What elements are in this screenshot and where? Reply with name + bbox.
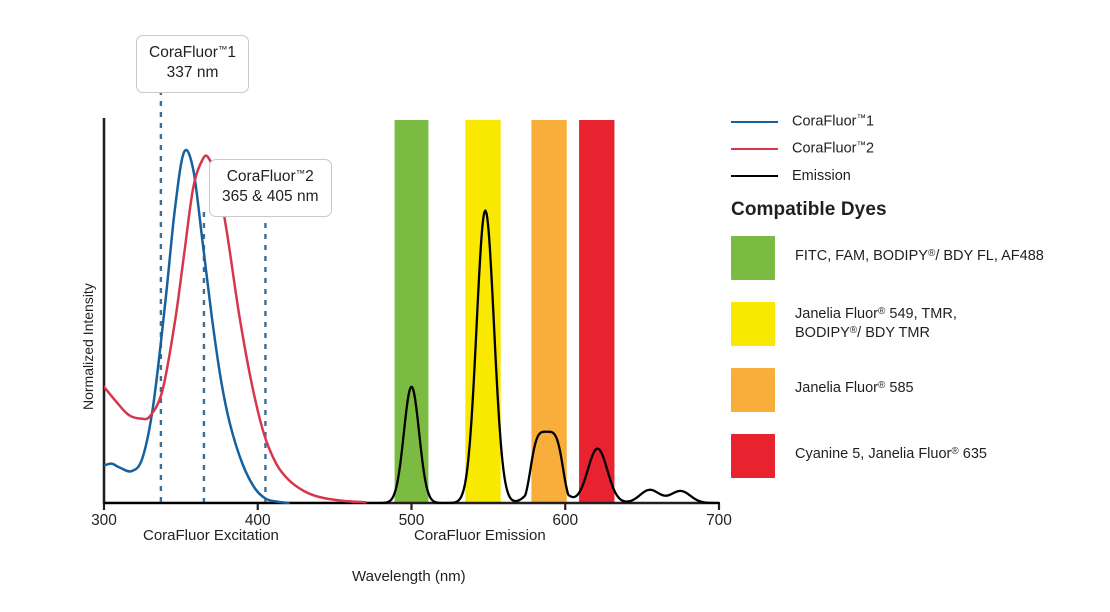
dye-color-swatch [731,434,775,478]
legend-line-swatch [731,148,778,150]
trademark-icon: ™ [296,168,306,179]
callout-2-line1: CoraFluor [227,168,296,185]
excitation-marker-lines [161,90,266,503]
dye-item-2[interactable]: Janelia Fluor® 585 [731,368,1103,412]
dye-item-1[interactable]: Janelia Fluor® 549, TMR,BODIPY®/ BDY TMR [731,302,1103,346]
dye-color-swatch [731,302,775,346]
callout-corafluor1: CoraFluor™1 337 nm [136,35,249,93]
registered-icon: ® [928,248,935,259]
x-tick-label-600: 600 [552,512,578,530]
callout-2-line2: 365 & 405 nm [222,187,319,207]
registered-icon: ® [850,325,857,336]
legend-item-2[interactable]: Emission [731,162,1103,189]
legend-line-swatch [731,121,778,123]
registered-icon: ® [951,446,958,457]
x-tick-label-300: 300 [91,512,117,530]
compatible-dyes-title: Compatible Dyes [731,199,887,221]
registered-icon: ® [878,306,885,317]
emission-band-group [395,120,615,503]
x-tick-label-700: 700 [706,512,732,530]
callout-corafluor2: CoraFluor™2 365 & 405 nm [209,159,332,217]
red-band [579,120,614,503]
legend-item-1[interactable]: CoraFluor™2 [731,135,1103,162]
orange-band [531,120,566,503]
compatible-dyes-list: FITC, FAM, BODIPY®/ BDY FL, AF488Janelia… [731,236,1103,500]
legend-item-0[interactable]: CoraFluor™1 [731,108,1103,135]
dye-item-label: FITC, FAM, BODIPY®/ BDY FL, AF488 [795,236,1044,266]
dye-item-label: Janelia Fluor® 549, TMR,BODIPY®/ BDY TMR [795,302,957,344]
trademark-icon: ™ [856,140,866,151]
spectra-plot [0,0,760,560]
trademark-icon: ™ [856,113,866,124]
figure-root: CoraFluor™1 337 nm CoraFluor™2 365 & 405… [0,0,1110,612]
dye-item-label: Cyanine 5, Janelia Fluor® 635 [795,434,987,464]
legend-line-swatch [731,175,778,177]
region-label-emission: CoraFluor Emission [414,527,546,544]
series-legend: CoraFluor™1CoraFluor™2Emission [731,108,1103,189]
x-axis-title: Wavelength (nm) [352,568,466,585]
dye-item-label: Janelia Fluor® 585 [795,368,914,398]
callout-1-line2: 337 nm [149,63,236,83]
dye-color-swatch [731,368,775,412]
dye-item-3[interactable]: Cyanine 5, Janelia Fluor® 635 [731,434,1103,478]
callout-2-suffix: 2 [305,168,314,185]
y-axis-title: Normalized Intensity [80,283,96,410]
legend-item-label: CoraFluor™1 [792,113,874,130]
dye-item-0[interactable]: FITC, FAM, BODIPY®/ BDY FL, AF488 [731,236,1103,280]
registered-icon: ® [878,380,885,391]
dye-color-swatch [731,236,775,280]
region-label-excitation: CoraFluor Excitation [143,527,279,544]
legend-item-label: Emission [792,168,851,184]
legend-item-label: CoraFluor™2 [792,140,874,157]
green-band [395,120,429,503]
callout-1-line1: CoraFluor [149,44,218,61]
callout-1-suffix: 1 [227,44,236,61]
trademark-icon: ™ [218,44,228,55]
